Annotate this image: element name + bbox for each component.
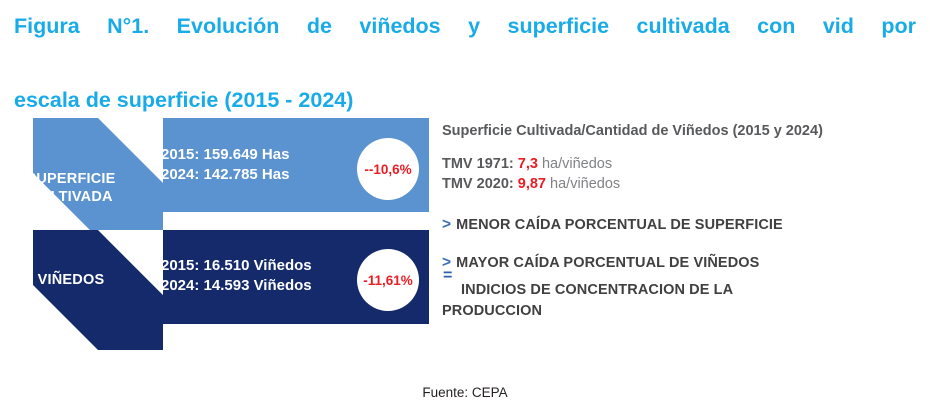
- superficie-value-2015: 2015: 159.649 Has: [161, 146, 289, 163]
- ratio-row-1971: TMV 1971: 7,3 ha/viñedos: [442, 156, 612, 172]
- band-label-vinedos: VIÑEDOS: [8, 271, 134, 289]
- ratio-value-1971: 7,3: [518, 156, 538, 172]
- ratio-unit-2020: ha/viñedos: [550, 176, 620, 192]
- page-title: Figura N°1. Evolución de viñedos y super…: [14, 8, 916, 119]
- band-values-vinedos: 2015: 16.510 Viñedos 2024: 14.593 Viñedo…: [161, 256, 312, 296]
- ratio-label-1971: TMV 1971:: [442, 156, 514, 172]
- percent-badge-superficie: --10,6%: [357, 138, 419, 200]
- conclusion-line1: INDICIOS DE CONCENTRACION DE LA: [442, 280, 762, 301]
- side-panel-heading: Superficie Cultivada/Cantidad de Viñedos…: [442, 123, 823, 139]
- percent-badge-vinedos-value: -11,61%: [363, 273, 413, 288]
- superficie-value-2024: 2024: 142.785 Has: [161, 166, 289, 183]
- bullet-item-superficie-text: MENOR CAÍDA PORCENTUAL DE SUPERFICIE: [456, 217, 783, 233]
- source-note: Fuente: CEPA: [0, 385, 930, 400]
- band-label-vinedos-line1: VIÑEDOS: [38, 272, 105, 288]
- percent-badge-superficie-value: --10,6%: [364, 162, 411, 177]
- figure-diagram: SUPERFICIE CULTIVADA 2015: 159.649 Has 2…: [0, 108, 930, 358]
- vinedos-value-2015: 2015: 16.510 Viñedos: [161, 257, 312, 274]
- vinedos-value-2024: 2024: 14.593 Viñedos: [161, 277, 312, 294]
- ratio-label-2020: TMV 2020:: [442, 176, 514, 192]
- conclusion-line2: PRODUCCION: [442, 301, 762, 322]
- bullet-item-vinedos-text: MAYOR CAÍDA PORCENTUAL DE VIÑEDOS: [456, 255, 759, 271]
- band-label-superficie: SUPERFICIE CULTIVADA: [8, 170, 134, 206]
- band-label-superficie-line2: CULTIVADA: [29, 189, 112, 205]
- conclusion-text: INDICIOS DE CONCENTRACION DE LA PRODUCCI…: [442, 280, 762, 322]
- band-label-superficie-line1: SUPERFICIE: [26, 171, 115, 187]
- bullet-item-vinedos: >MAYOR CAÍDA PORCENTUAL DE VIÑEDOS: [442, 254, 759, 272]
- bullet-item-superficie: >MENOR CAÍDA PORCENTUAL DE SUPERFICIE: [442, 216, 783, 234]
- greater-than-icon: >: [442, 216, 451, 233]
- percent-badge-vinedos: -11,61%: [357, 249, 419, 311]
- ratio-value-2020: 9,87: [518, 176, 546, 192]
- ratio-row-2020: TMV 2020: 9,87 ha/viñedos: [442, 176, 620, 192]
- ratio-unit-1971: ha/viñedos: [542, 156, 612, 172]
- page-title-line1: Figura N°1. Evolución de viñedos y super…: [14, 8, 916, 82]
- band-values-superficie: 2015: 159.649 Has 2024: 142.785 Has: [161, 145, 289, 185]
